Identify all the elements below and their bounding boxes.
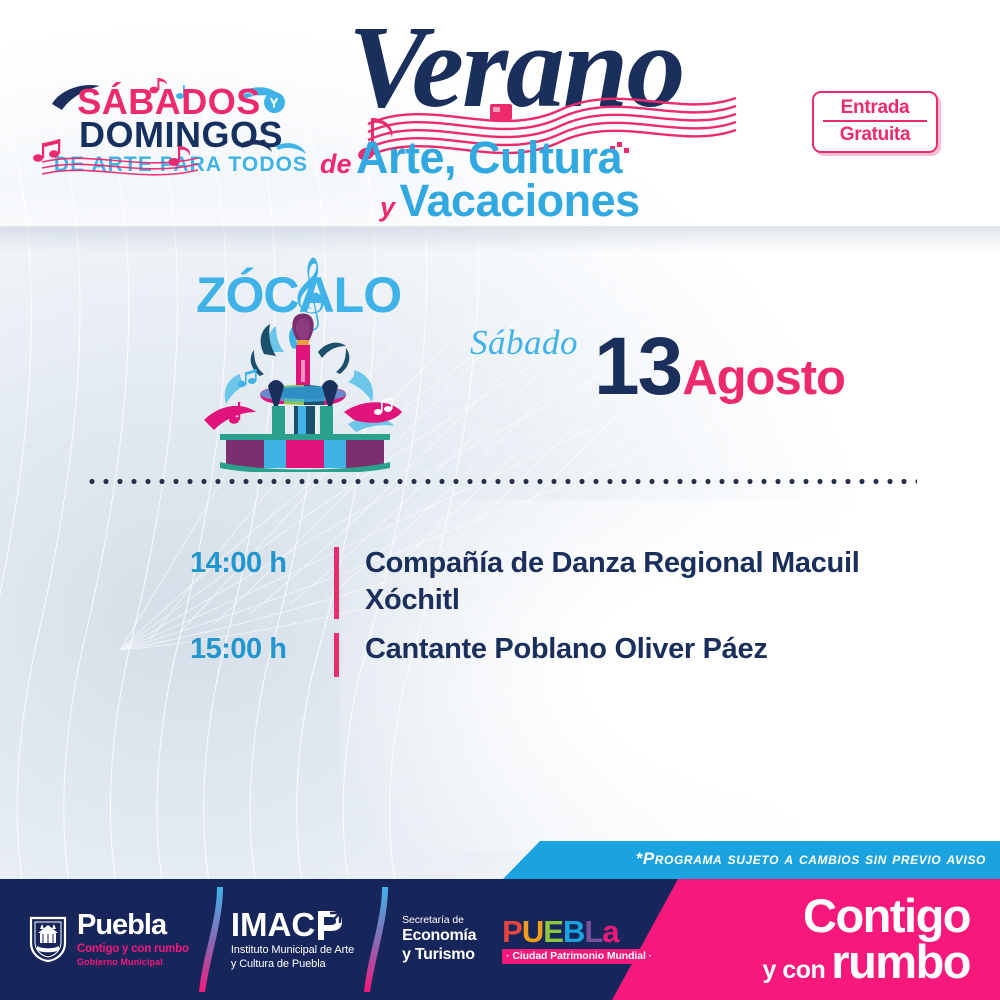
slogan-rumbo: rumbo xyxy=(831,935,970,988)
schedule-separator xyxy=(334,633,339,677)
puebla-tagline: Contigo y con rumbo xyxy=(77,942,189,956)
footer-divider-swoosh xyxy=(362,887,388,992)
free-entry-line-2: Gratuita xyxy=(814,124,936,145)
puebla-wordmark: Puebla Contigo y con rumbo Gobierno Muni… xyxy=(77,911,189,967)
patrimonio-letter: E xyxy=(543,916,563,947)
patrimonio-bar: · Ciudad Patrimonio Mundial · xyxy=(502,949,656,964)
footer-divider-swoosh xyxy=(197,887,223,992)
series-line-2: DOMINGOS xyxy=(42,117,320,153)
title-vacaciones: Vacaciones xyxy=(399,175,639,226)
logo-secretaria: Secretaría de Economía y Turismo xyxy=(402,914,476,964)
logo-patrimonio: PUEBLa · Ciudad Patrimonio Mundial · xyxy=(502,916,656,964)
disclaimer-text: *Programa sujeto a cambios sin previo av… xyxy=(636,849,986,869)
date-weekday: Sábado xyxy=(470,323,578,363)
free-entry-badge: Entrada Gratuita xyxy=(812,91,938,153)
logo-imacp: IMAC Instituto Municipal de Arte y Cultu… xyxy=(231,908,354,971)
secretaria-line-3: y Turismo xyxy=(402,946,476,965)
imacp-p-arrow-icon xyxy=(316,909,344,941)
title-word-de: de xyxy=(320,149,352,179)
poster-canvas: SÁBADOSY DOMINGOS DE ARTE PARA TODOS xyxy=(0,0,1000,1000)
schedule-separator xyxy=(334,547,339,619)
schedule-time: 14:00 h xyxy=(190,545,320,582)
imacp-name: IMAC xyxy=(231,908,315,941)
slogan-small: y con xyxy=(762,956,825,984)
secretaria-line-1: Secretaría de xyxy=(402,914,476,926)
title-word-y: y xyxy=(380,192,395,222)
imacp-name-row: IMAC xyxy=(231,908,354,941)
secretaria-line-2: Economía xyxy=(402,927,476,946)
puebla-sub: Gobierno Municipal xyxy=(77,957,189,968)
puebla-name: Puebla xyxy=(77,911,189,940)
main-title: Verano xyxy=(320,12,740,227)
dotted-divider xyxy=(85,478,917,485)
fountain-illustration xyxy=(198,312,418,472)
slogan-line-1: Contigo xyxy=(640,892,970,940)
patrimonio-wordmark: PUEBLa · Ciudad Patrimonio Mundial · xyxy=(502,916,656,964)
patrimonio-letter: a xyxy=(602,916,618,947)
patrimonio-letters: PUEBLa xyxy=(502,916,656,947)
date-day: 13 xyxy=(594,320,681,414)
slogan-line-2: y conrumbo xyxy=(640,938,970,986)
schedule-row: 14:00 h Compañía de Danza Regional Macui… xyxy=(190,545,930,619)
footer-logo-group: Puebla Contigo y con rumbo Gobierno Muni… xyxy=(28,879,656,1000)
imacp-sub-line-1: Instituto Municipal de Arte xyxy=(231,944,354,957)
disclaimer-band: *Programa sujeto a cambios sin previo av… xyxy=(0,841,1000,879)
schedule-time: 15:00 h xyxy=(190,631,320,668)
title-line-3: y Vacaciones xyxy=(380,175,640,227)
free-entry-separator xyxy=(823,120,927,122)
schedule-list: 14:00 h Compañía de Danza Regional Macui… xyxy=(190,545,930,689)
imacp-wordmark: IMAC Instituto Municipal de Arte y Cultu… xyxy=(231,908,354,971)
free-entry-line-1: Entrada xyxy=(814,97,936,118)
patrimonio-letter: L xyxy=(584,916,602,947)
event-date: Sábado13Agosto xyxy=(470,320,845,414)
slogan-block: Contigo y conrumbo xyxy=(640,892,970,987)
patrimonio-letter: U xyxy=(522,916,543,947)
imacp-sub-line-2: y Cultura de Puebla xyxy=(231,958,354,971)
patrimonio-letter: P xyxy=(502,916,522,947)
series-line-3: DE ARTE PARA TODOS xyxy=(42,154,320,175)
header-divider-shadow xyxy=(0,226,1000,252)
secretaria-wordmark: Secretaría de Economía y Turismo xyxy=(402,914,476,964)
date-month: Agosto xyxy=(682,350,845,406)
patrimonio-letter: B xyxy=(563,916,584,947)
logo-puebla: Puebla Contigo y con rumbo Gobierno Muni… xyxy=(28,911,189,967)
series-connector-badge: Y xyxy=(264,92,285,113)
schedule-title: Compañía de Danza Regional Macuil Xóchit… xyxy=(365,545,930,619)
series-lockup: SÁBADOSY DOMINGOS DE ARTE PARA TODOS xyxy=(42,84,320,175)
schedule-row: 15:00 h Cantante Poblano Oliver Páez xyxy=(190,631,930,677)
schedule-title: Cantante Poblano Oliver Páez xyxy=(365,631,930,668)
title-verano: Verano xyxy=(348,8,684,126)
puebla-shield-icon xyxy=(28,915,68,963)
